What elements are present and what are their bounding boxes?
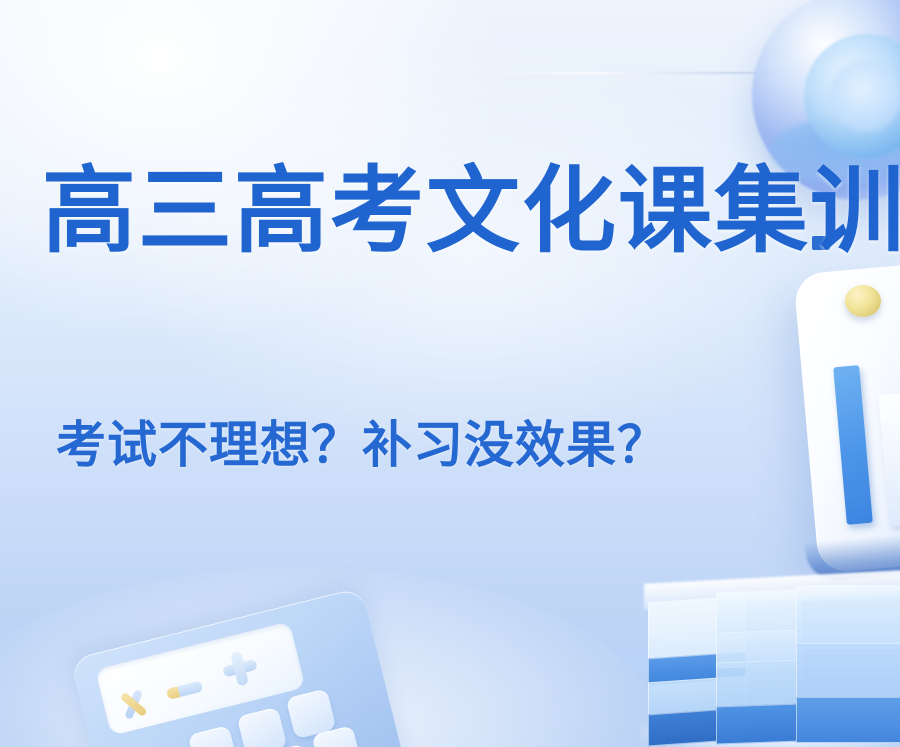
yellow-knob-icon — [845, 285, 881, 317]
book-block — [716, 703, 802, 744]
banner-subheadline: 考试不理想？补习没效果？ — [56, 414, 668, 476]
book-block — [796, 697, 900, 743]
book-block — [796, 643, 900, 703]
book-block — [716, 659, 802, 710]
calculator-key — [237, 707, 288, 747]
calculator-key — [188, 725, 239, 747]
ring-hole — [830, 60, 900, 132]
calculator-decoration — [70, 587, 414, 747]
banner-headline: 高三高考文化课集训 — [42, 158, 900, 263]
promo-banner: 高三高考文化课集训 考试不理想？补习没效果？ — [0, 0, 900, 747]
stacked-books-decoration — [648, 569, 900, 747]
